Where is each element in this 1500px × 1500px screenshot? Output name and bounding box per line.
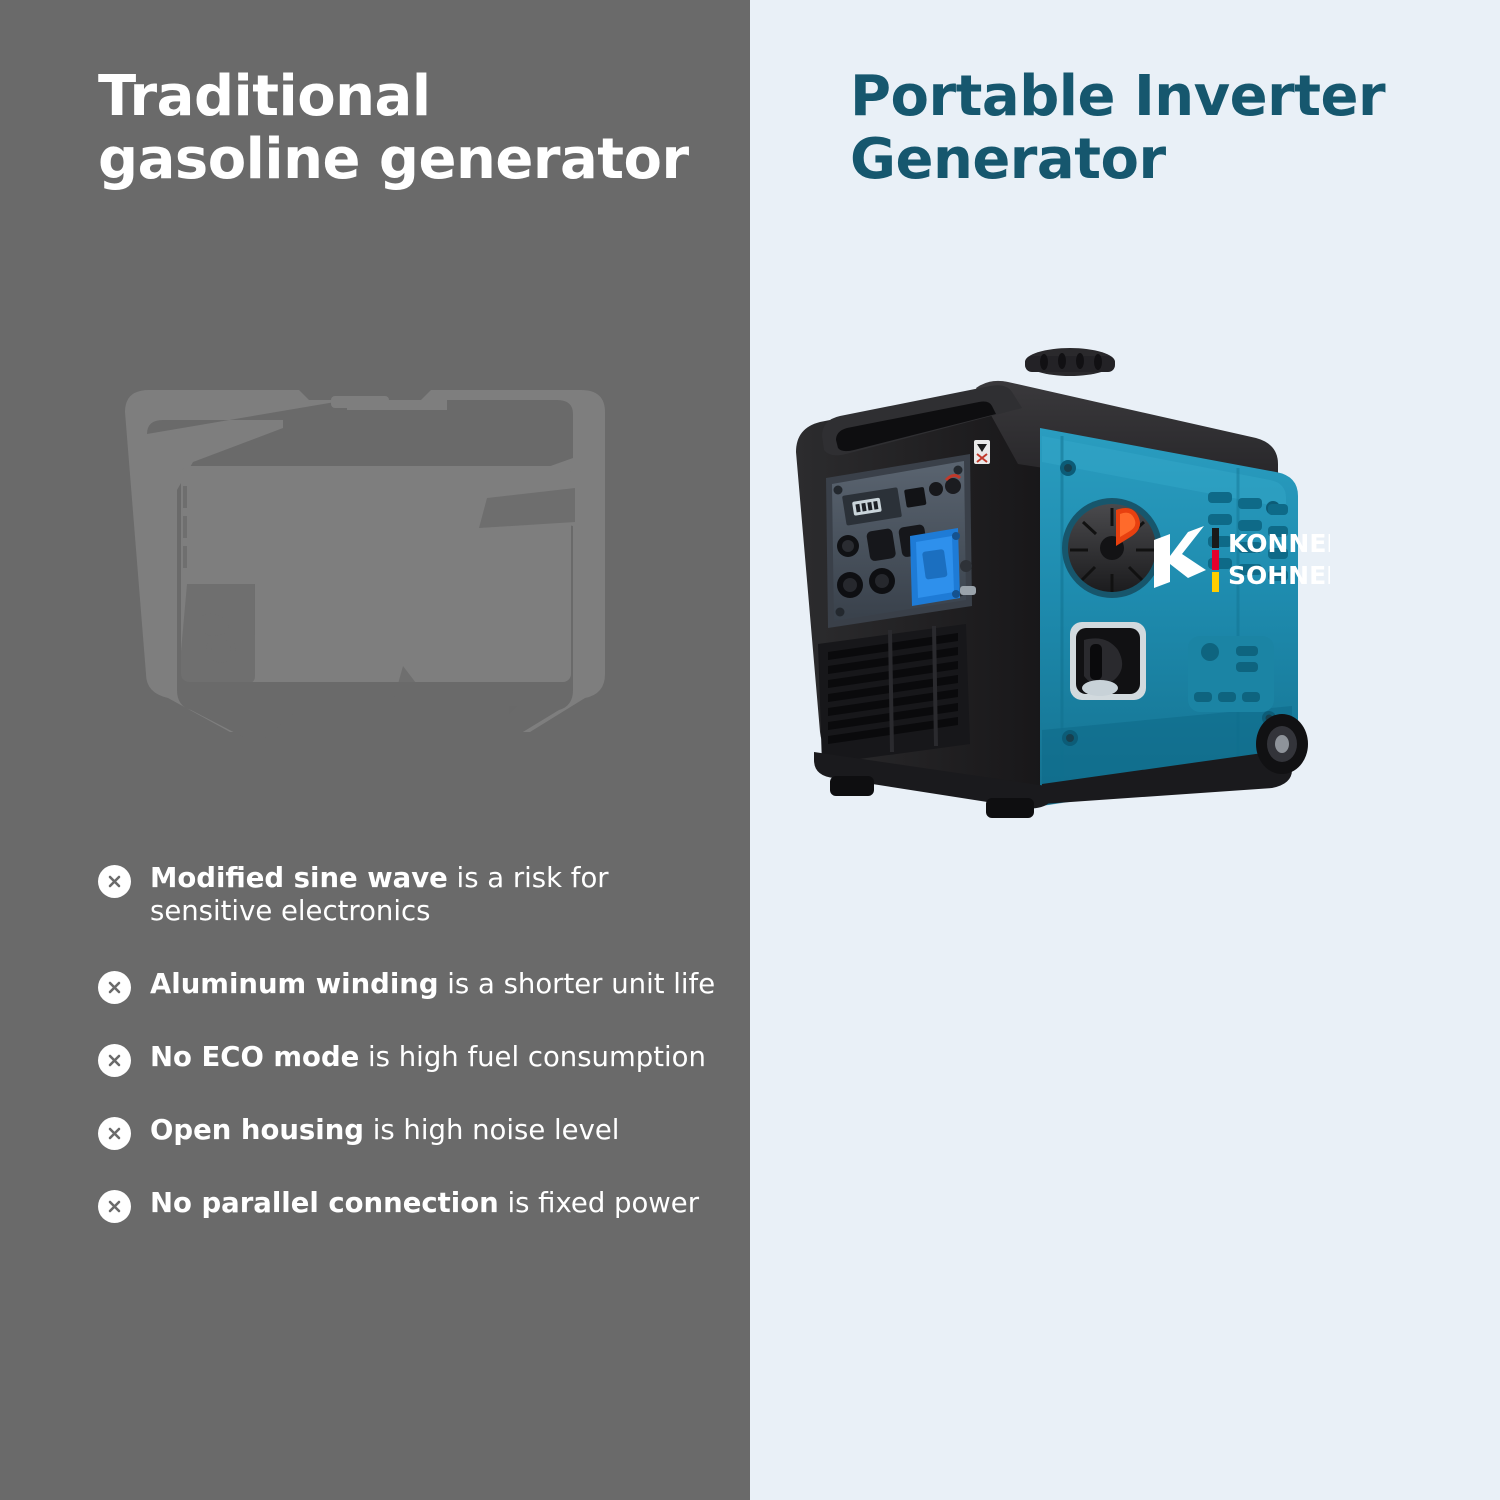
page-title-right: Portable Inverter Generator	[850, 66, 1450, 191]
brand-line1: KONNER	[1228, 529, 1330, 558]
list-item-text: Open housing is high noise level	[150, 1114, 619, 1146]
konner-sohnen-generator-icon: KONNER SOHNEN	[770, 340, 1330, 820]
list-item-strong: Aluminum winding	[150, 968, 439, 1000]
left-feature-list: Modified sine wave is a risk for sensiti…	[98, 862, 718, 1220]
list-item-rest: is high fuel consumption	[359, 1041, 706, 1073]
list-item: Modified sine wave is a risk for sensiti…	[98, 862, 718, 928]
list-item-text: Modified sine wave is a risk for sensiti…	[150, 862, 609, 927]
eco-switch	[904, 487, 927, 508]
comparison-infographic: Traditional gasoline generator	[0, 0, 1500, 1500]
list-item: Aluminum winding is a shorter unit life	[98, 968, 718, 1001]
ignition-knob-icon	[1062, 498, 1162, 598]
x-circle-icon	[98, 1190, 131, 1223]
x-circle-icon	[98, 971, 131, 1004]
list-item-strong: No parallel connection	[150, 1187, 499, 1219]
earth-terminal	[960, 560, 972, 572]
warning-label	[974, 440, 990, 464]
socket	[866, 528, 896, 562]
fuel-cap-icon	[1025, 348, 1115, 376]
brand-line2: SOHNEN	[1228, 561, 1330, 590]
right-panel-inverter: Portable Inverter Generator	[750, 0, 1500, 1500]
x-circle-icon	[98, 865, 131, 898]
list-item: No ECO mode is high fuel consumption	[98, 1041, 718, 1074]
list-item: No parallel connection is fixed power	[98, 1187, 718, 1220]
list-item-rest: is a shorter unit life	[439, 968, 716, 1000]
recoil-starter-icon	[1070, 622, 1146, 700]
right-product-area: KONNER SOHNEN	[750, 330, 1500, 830]
list-item-strong: Open housing	[150, 1114, 364, 1146]
cee-socket	[910, 528, 960, 606]
wheel-icon	[1256, 714, 1308, 774]
list-item-text: Aluminum winding is a shorter unit life	[150, 968, 715, 1000]
list-item-rest: is high noise level	[364, 1114, 619, 1146]
left-product-area	[0, 330, 750, 830]
reset-button	[929, 482, 943, 496]
list-item-strong: Modified sine wave	[150, 862, 448, 894]
side-grille	[818, 624, 970, 764]
left-panel-traditional: Traditional gasoline generator	[0, 0, 750, 1500]
ground-lug	[960, 586, 976, 595]
list-item: Open housing is high noise level	[98, 1114, 718, 1147]
list-item-text: No parallel connection is fixed power	[150, 1187, 699, 1219]
list-item-strong: No ECO mode	[150, 1041, 359, 1073]
list-item-rest: is fixed power	[499, 1187, 699, 1219]
generator-ghost-icon	[95, 370, 655, 770]
page-title-left: Traditional gasoline generator	[98, 66, 738, 191]
list-item-text: No ECO mode is high fuel consumption	[150, 1041, 706, 1073]
x-circle-icon	[98, 1117, 131, 1150]
access-hatch-icon	[1188, 636, 1274, 712]
control-panel	[826, 454, 976, 628]
x-circle-icon	[98, 1044, 131, 1077]
traditional-generator-silhouette	[95, 370, 655, 770]
inverter-generator-photo: KONNER SOHNEN	[770, 340, 1330, 820]
